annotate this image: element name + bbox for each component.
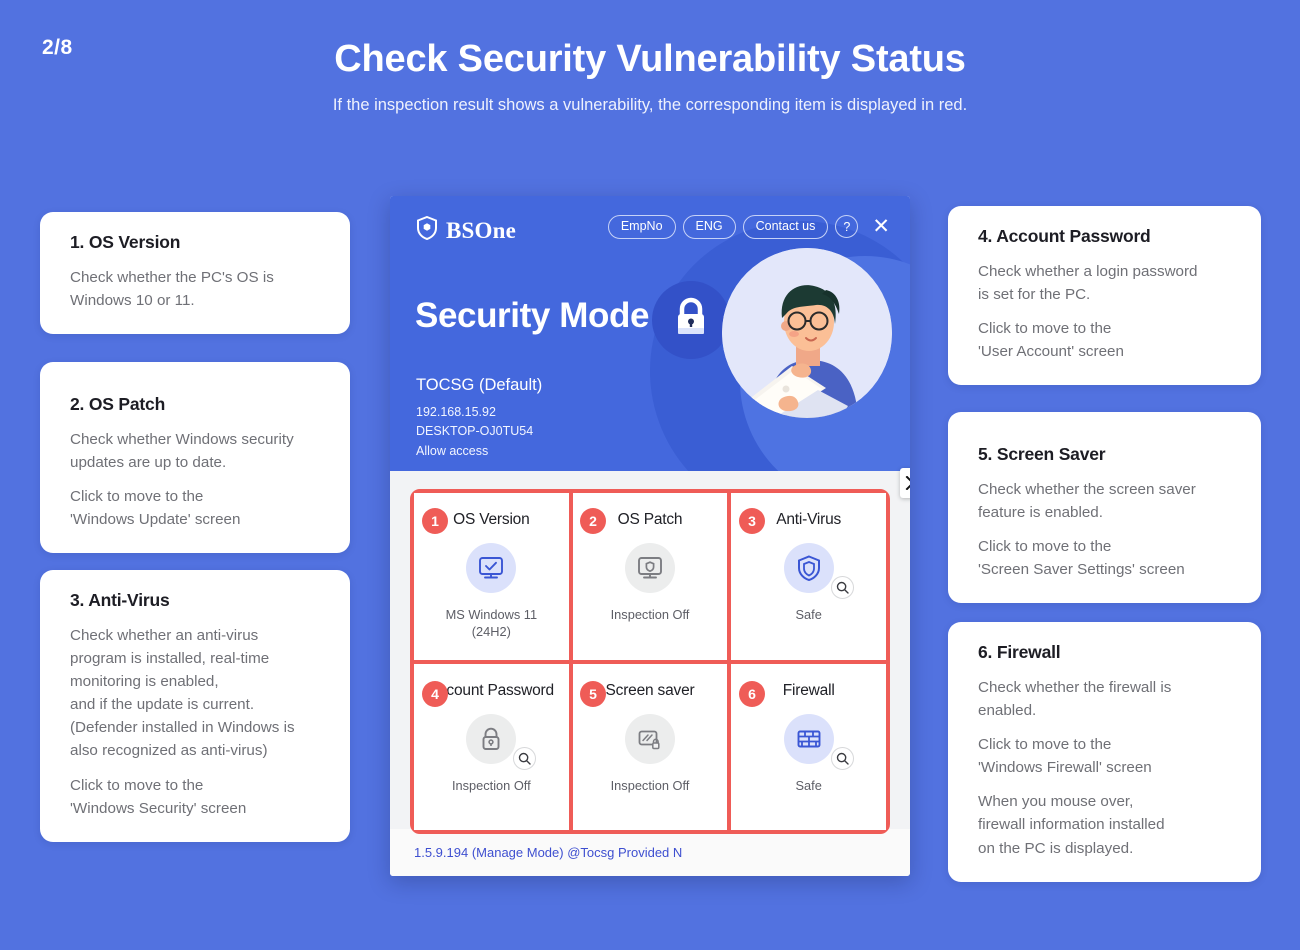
cell-status: Inspection Off [611,777,690,794]
step-badge-3: 3 [739,508,765,534]
device-meta: TOCSG (Default) 192.168.15.92 DESKTOP-OJ… [416,376,542,461]
search-icon[interactable] [831,747,854,770]
note-paragraph: Check whether the screen saver feature i… [978,478,1233,524]
note-paragraph: Click to move to the 'Windows Firewall' … [978,733,1233,779]
note-card-account-password: 4. Account Password Check whether a logi… [948,206,1261,385]
note-paragraph: Check whether the PC's OS is Windows 10 … [70,266,322,312]
note-card-firewall: 6. Firewall Check whether the firewall i… [948,622,1261,882]
cell-title: OS Version [453,511,529,529]
note-title: 6. Firewall [978,642,1233,663]
ip-address: 192.168.15.92 [416,403,542,422]
note-paragraph: Click to move to the 'Windows Update' sc… [70,485,322,531]
monitor-check-icon [466,543,516,593]
lock-badge [652,281,730,359]
icon-wrap [466,714,516,764]
status-grid-wrap: OS Version MS Windows 11 (24H2) OS P [390,471,910,829]
note-paragraph: Check whether a login password is set fo… [978,260,1233,306]
page-title: Check Security Vulnerability Status [0,38,1300,81]
screensaver-lock-icon [625,714,675,764]
app-header: BSOne EmpNo ENG Contact us ? ✕ [390,196,910,471]
note-card-anti-virus: 3. Anti-Virus Check whether an anti-viru… [40,570,350,842]
step-badge-2: 2 [580,508,606,534]
monitor-shield-icon [625,543,675,593]
cell-title: OS Patch [618,511,683,529]
brand: BSOne [416,216,516,245]
cell-status: MS Windows 11 (24H2) [446,606,538,641]
note-title: 2. OS Patch [70,394,322,415]
lock-icon [671,296,711,345]
note-paragraph: When you mouse over, firewall informatio… [978,790,1233,859]
step-badge-6: 6 [739,681,765,707]
note-card-os-patch: 2. OS Patch Check whether Windows securi… [40,362,350,553]
language-button[interactable]: ENG [683,215,736,239]
note-title: 4. Account Password [978,226,1233,247]
icon-wrap [625,714,675,764]
cell-status: Safe [796,777,822,794]
step-badge-1: 1 [422,508,448,534]
help-icon[interactable]: ? [835,215,858,238]
page-subtitle: If the inspection result shows a vulnera… [0,96,1300,115]
hostname: DESKTOP-OJ0TU54 [416,422,542,441]
cell-status: Inspection Off [452,777,531,794]
note-title: 1. OS Version [70,232,322,253]
contact-us-button[interactable]: Contact us [743,215,829,239]
search-icon[interactable] [831,576,854,599]
note-paragraph: Click to move to the 'User Account' scre… [978,317,1233,363]
header-actions: EmpNo ENG Contact us ? ✕ [608,215,890,239]
search-icon[interactable] [513,747,536,770]
brand-name: BSOne [446,218,516,244]
group-name: TOCSG (Default) [416,376,542,395]
cell-status: Safe [796,606,822,623]
note-card-os-version: 1. OS Version Check whether the PC's OS … [40,212,350,334]
brick-wall-icon [784,714,834,764]
icon-wrap [625,543,675,593]
shield-icon [784,543,834,593]
mode-title: Security Mode [415,296,649,336]
note-title: 3. Anti-Virus [70,590,322,611]
cell-title: Firewall [783,682,835,700]
lock-icon [466,714,516,764]
step-badge-5: 5 [580,681,606,707]
cell-title: Anti-Virus [776,511,841,529]
app-footer: 1.5.9.194 (Manage Mode) @Tocsg Provided … [390,829,910,876]
note-paragraph: Check whether an anti-virus program is i… [70,624,322,763]
status-grid: OS Version MS Windows 11 (24H2) OS P [410,489,890,834]
access-status: Allow access [416,442,542,461]
icon-wrap [466,543,516,593]
note-paragraph: Check whether Windows security updates a… [70,428,322,474]
bsone-app-window: BSOne EmpNo ENG Contact us ? ✕ [390,196,910,876]
step-badge-4: 4 [422,681,448,707]
chevron-right-icon[interactable] [900,468,910,498]
shield-icon [416,216,438,245]
version-text: 1.5.9.194 (Manage Mode) @Tocsg Provided … [414,845,682,860]
note-paragraph: Check whether the firewall is enabled. [978,676,1233,722]
cell-title: Screen saver [606,682,695,700]
icon-wrap [784,714,834,764]
note-paragraph: Click to move to the 'Screen Saver Setti… [978,535,1233,581]
note-title: 5. Screen Saver [978,444,1233,465]
close-icon[interactable]: ✕ [872,216,890,237]
person-illustration [722,248,892,418]
note-card-screen-saver: 5. Screen Saver Check whether the screen… [948,412,1261,603]
note-paragraph: Click to move to the 'Windows Security' … [70,774,322,820]
icon-wrap [784,543,834,593]
cell-status: Inspection Off [611,606,690,623]
empno-button[interactable]: EmpNo [608,215,676,239]
